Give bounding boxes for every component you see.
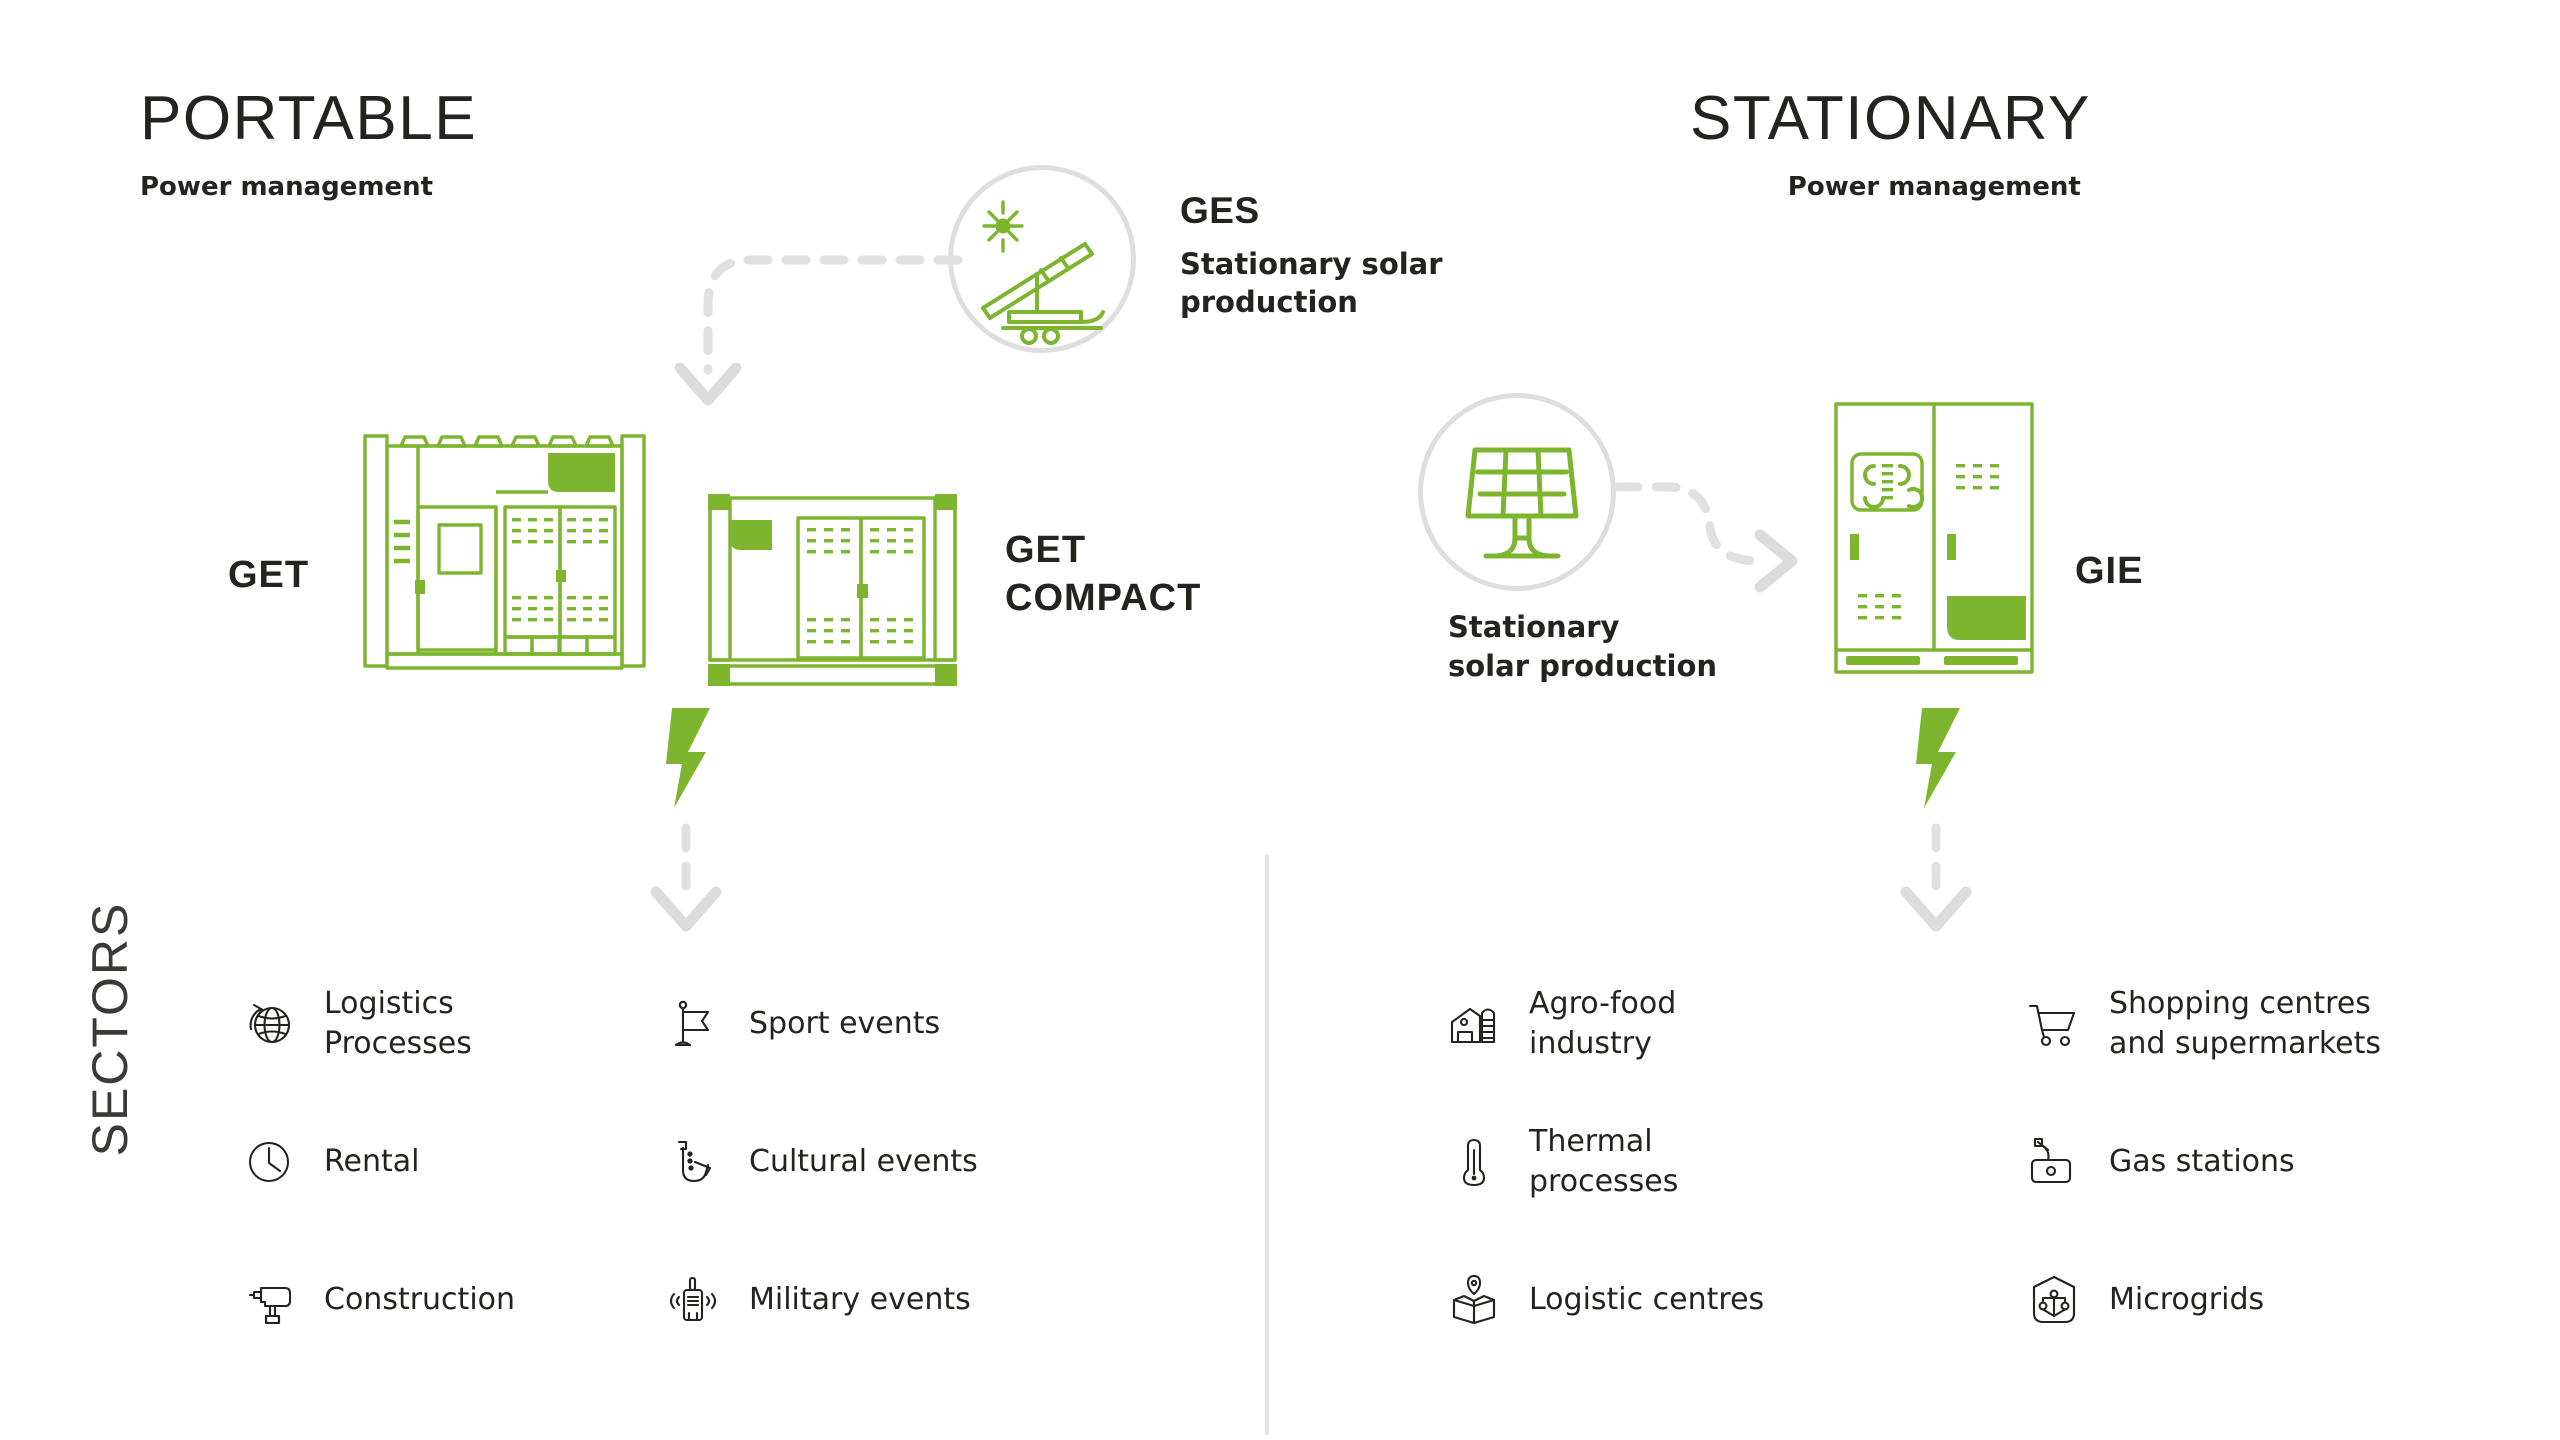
gie-label: GIE xyxy=(2075,548,2143,596)
stationary-solar-caption: Stationary solar production xyxy=(1448,608,1717,686)
sector-label: Construction xyxy=(324,1280,515,1320)
sector-label: Gas stations xyxy=(2109,1142,2295,1182)
microgrid-house-icon xyxy=(2025,1271,2083,1329)
list-item: Gas stations xyxy=(2025,1093,2445,1231)
sector-label: Logistics Processes xyxy=(324,984,472,1064)
sectors-axis-label: SECTORS xyxy=(81,859,139,1199)
list-item: Agro-food industry xyxy=(1445,955,1785,1093)
gie-to-sectors-connector xyxy=(1870,700,2050,944)
fuel-pump-icon xyxy=(2025,1133,2083,1191)
thermometer-icon xyxy=(1445,1133,1503,1191)
portable-subtitle: Power management xyxy=(140,174,477,200)
farm-silo-icon xyxy=(1445,995,1503,1053)
globe-arrow-icon xyxy=(240,995,298,1053)
ges-text-block: GES Stationary solar production xyxy=(1180,192,1490,322)
sector-column-portable-1: Logistics Processes Rental xyxy=(240,955,570,1369)
sector-label: Thermal processes xyxy=(1529,1122,1785,1202)
get-container-unit-icon xyxy=(360,430,660,694)
section-divider xyxy=(1265,855,1269,1435)
lightning-bolt-icon xyxy=(1916,708,1960,808)
list-item: Microgrids xyxy=(2025,1231,2445,1369)
list-item: Logistic centres xyxy=(1445,1231,1785,1369)
solar-panel-icon xyxy=(1423,398,1621,596)
list-item: Shopping centres and supermarkets xyxy=(2025,955,2445,1093)
stationary-header: STATIONARY Power management xyxy=(1690,88,2091,200)
open-box-pin-icon xyxy=(1445,1271,1503,1329)
lightning-bolt-icon xyxy=(666,708,710,808)
solar-caption-line1: Stationary xyxy=(1448,608,1717,647)
stationary-subtitle: Power management xyxy=(1690,174,2091,200)
get-compact-label: GET COMPACT xyxy=(1005,527,1201,622)
portable-header: PORTABLE Power management xyxy=(140,88,477,200)
saxophone-icon xyxy=(665,1133,723,1191)
flag-icon xyxy=(665,995,723,1053)
list-item: Rental xyxy=(240,1093,570,1231)
portable-title: PORTABLE xyxy=(140,88,477,150)
sector-label: Logistic centres xyxy=(1529,1280,1764,1320)
solar-to-gie-connector xyxy=(1610,465,1840,599)
list-item: Cultural events xyxy=(665,1093,995,1231)
sector-label: Cultural events xyxy=(749,1142,978,1182)
list-item: Thermal processes xyxy=(1445,1093,1785,1231)
shopping-cart-icon xyxy=(2025,995,2083,1053)
sector-label: Military events xyxy=(749,1280,971,1320)
sector-column-stationary-1: Agro-food industry Thermal processes xyxy=(1445,955,1785,1369)
get-compact-label-line2: COMPACT xyxy=(1005,575,1201,623)
list-item: Military events xyxy=(665,1231,995,1369)
get-label: GET xyxy=(228,552,309,600)
walkie-talkie-icon xyxy=(665,1271,723,1329)
sector-column-portable-2: Sport events Cultural eve xyxy=(665,955,995,1369)
list-item: Logistics Processes xyxy=(240,955,570,1093)
ges-to-get-connector xyxy=(640,230,970,434)
sector-label: Sport events xyxy=(749,1004,940,1044)
stationary-title: STATIONARY xyxy=(1690,88,2091,150)
sector-label: Shopping centres and supermarkets xyxy=(2109,984,2381,1064)
gie-cabinet-icon xyxy=(1830,398,2060,692)
ges-description: Stationary solar production xyxy=(1180,245,1490,322)
get-compact-label-line1: GET xyxy=(1005,527,1201,575)
stationary-solar-badge xyxy=(1418,393,1616,591)
ges-badge xyxy=(948,165,1136,353)
get-compact-unit-icon xyxy=(700,480,990,704)
ges-title: GES xyxy=(1180,192,1490,229)
sector-label: Agro-food industry xyxy=(1529,984,1676,1064)
drill-icon xyxy=(240,1271,298,1329)
sector-label: Rental xyxy=(324,1142,419,1182)
sector-label: Microgrids xyxy=(2109,1280,2264,1320)
list-item: Sport events xyxy=(665,955,995,1093)
list-item: Construction xyxy=(240,1231,570,1369)
mobile-solar-trailer-icon xyxy=(953,170,1141,358)
get-to-sectors-connector xyxy=(620,700,800,944)
solar-caption-line2: solar production xyxy=(1448,647,1717,686)
clock-icon xyxy=(240,1133,298,1191)
sector-column-stationary-2: Shopping centres and supermarkets Gas st… xyxy=(2025,955,2445,1369)
